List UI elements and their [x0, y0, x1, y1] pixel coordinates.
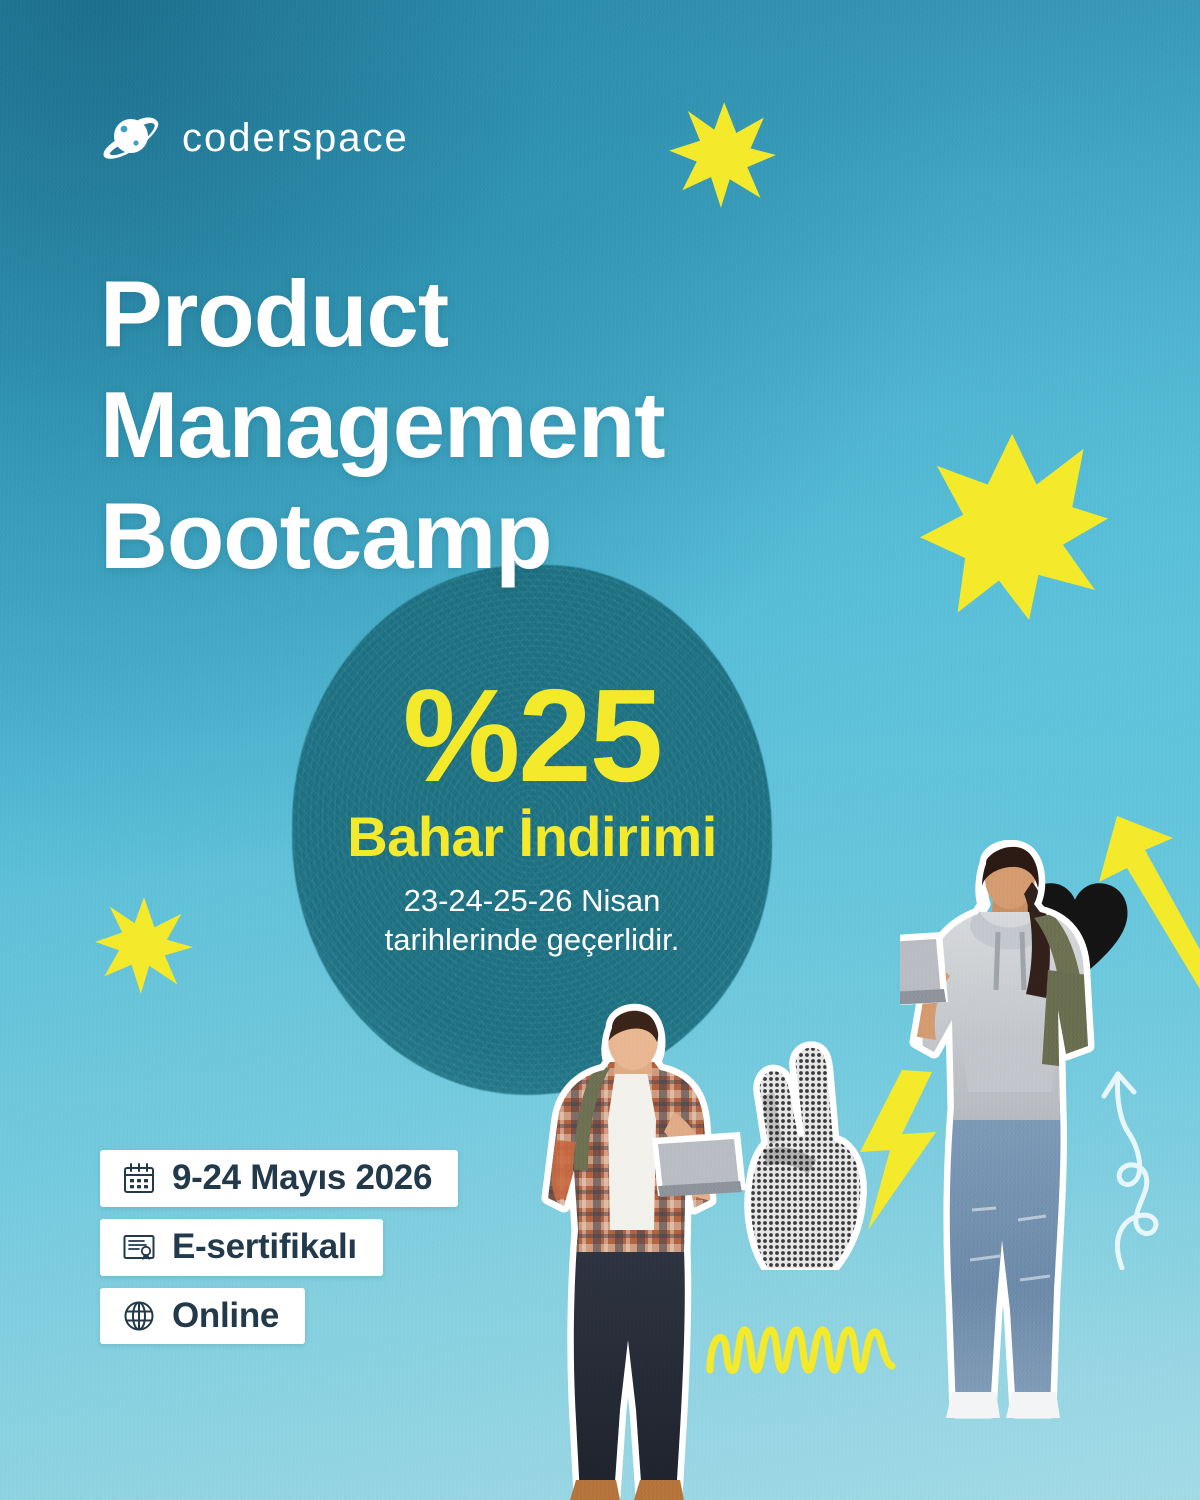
- info-pill-online-label: Online: [172, 1298, 279, 1335]
- student-female-with-tablet-photo: [900, 840, 1120, 1440]
- info-pill-certificate-label: E-sertifikalı: [172, 1229, 357, 1266]
- arrow-up-yellow-icon: [1068, 808, 1200, 1008]
- promo-poster: %25 Bahar İndirimi 23-24-25-26 Nisan tar…: [0, 0, 1200, 1500]
- peace-hand-halftone-photo: [738, 1040, 868, 1270]
- arrow-curl-white-icon: [1088, 1050, 1192, 1270]
- info-pill-certificate[interactable]: E-sertifikalı: [100, 1219, 383, 1276]
- page-title: Product Management Bootcamp: [100, 259, 665, 592]
- globe-icon: [122, 1299, 156, 1333]
- brand-name: coderspace: [182, 118, 409, 158]
- star-small-left-icon: [92, 893, 196, 997]
- discount-badge-circle: [292, 565, 772, 1095]
- info-pill-online[interactable]: Online: [100, 1288, 305, 1345]
- info-pill-date-label: 9-24 Mayıs 2026: [172, 1160, 432, 1197]
- certificate-icon: [122, 1230, 156, 1264]
- zigzag-squiggle-icon: [706, 1318, 896, 1378]
- heart-doodle-icon: [1020, 880, 1130, 985]
- star-large-right-icon: [920, 428, 1108, 624]
- planet-saturn-icon: [103, 112, 165, 164]
- info-pill-list: 9-24 Mayıs 2026 E-sertifikalı: [100, 1150, 458, 1344]
- info-pill-date[interactable]: 9-24 Mayıs 2026: [100, 1150, 458, 1207]
- lightning-bolt-icon: [840, 1070, 944, 1230]
- brand-logo[interactable]: coderspace: [103, 112, 409, 164]
- calendar-icon: [122, 1161, 156, 1195]
- star-top-right-icon: [666, 100, 778, 210]
